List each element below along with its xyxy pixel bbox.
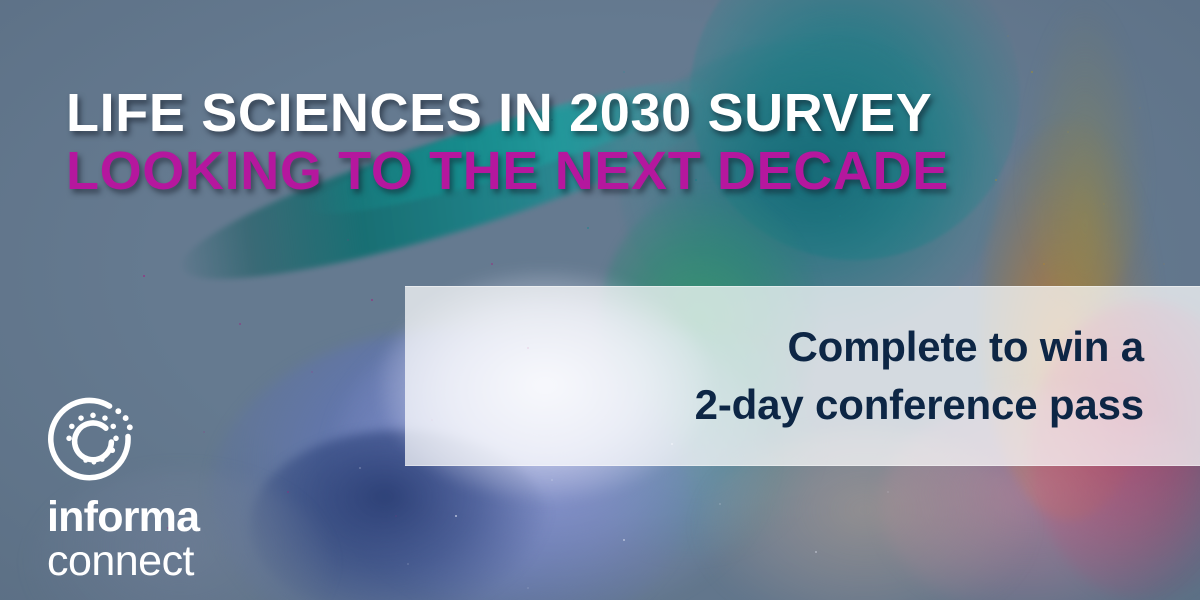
informa-connect-rings-icon (47, 396, 139, 488)
headline-block: LIFE SCIENCES IN 2030 SURVEY LOOKING TO … (66, 84, 949, 200)
headline-primary: LIFE SCIENCES IN 2030 SURVEY (66, 84, 949, 142)
wordmark-connect: connect (47, 540, 257, 583)
informa-connect-wordmark: informa connect (47, 496, 257, 583)
wordmark-informa: informa (47, 496, 257, 539)
headline-secondary: LOOKING TO THE NEXT DECADE (66, 142, 949, 200)
promo-banner: LIFE SCIENCES IN 2030 SURVEY LOOKING TO … (0, 0, 1200, 600)
callout-line-1: Complete to win a (787, 318, 1144, 376)
callout-panel: Complete to win a 2-day conference pass (405, 286, 1200, 466)
splash-gold-haze (1020, 0, 1150, 300)
informa-connect-logo: informa connect (47, 396, 257, 583)
callout-line-2: 2-day conference pass (695, 376, 1144, 434)
